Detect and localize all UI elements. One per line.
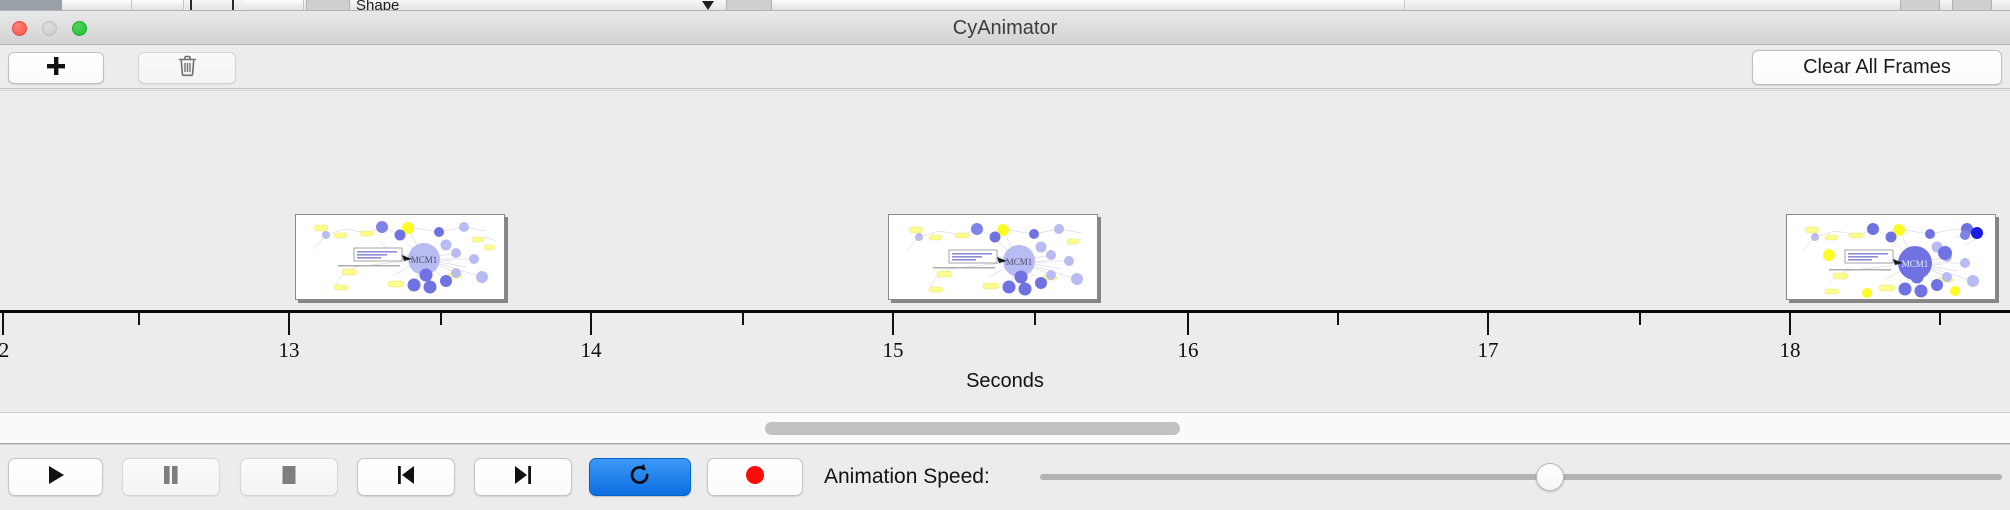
stop-button[interactable] — [240, 458, 338, 496]
axis-tick-major — [2, 313, 4, 335]
play-icon — [46, 464, 66, 491]
background-window-block — [1952, 0, 1992, 11]
timeline-panel[interactable]: MCM1 — [0, 90, 2010, 412]
pause-icon — [162, 464, 180, 491]
axis-tick-minor — [1337, 313, 1339, 325]
background-window-tick — [190, 0, 192, 11]
clear-all-frames-button[interactable]: Clear All Frames — [1752, 50, 2002, 85]
background-window-tick — [232, 0, 234, 11]
background-window-block — [1900, 0, 1940, 11]
background-window-strip: Shape — [0, 0, 2010, 11]
record-icon — [744, 464, 766, 491]
animation-speed-label: Animation Speed: — [824, 458, 990, 496]
loop-button[interactable] — [589, 458, 691, 496]
svg-text:MCM1: MCM1 — [1006, 257, 1033, 267]
skip-forward-icon — [512, 464, 534, 491]
axis-tick-label: 17 — [1478, 338, 1499, 363]
record-button[interactable] — [707, 458, 803, 496]
background-window-segment — [132, 0, 184, 11]
axis-tick-label: 15 — [883, 338, 904, 363]
svg-text:MCM1: MCM1 — [1902, 259, 1929, 269]
axis-tick-label: 18 — [1780, 338, 1801, 363]
timeline-axis-line — [0, 310, 2010, 313]
previous-frame-button[interactable] — [357, 458, 455, 496]
background-window-block — [306, 0, 350, 11]
play-button[interactable] — [8, 458, 103, 496]
background-window-dark-segment — [0, 0, 62, 11]
axis-tick-minor — [440, 313, 442, 325]
plus-icon — [45, 55, 67, 81]
trash-icon — [177, 54, 198, 82]
animation-speed-slider[interactable] — [1040, 458, 2002, 496]
loop-icon — [628, 463, 652, 492]
axis-tick-major — [1789, 313, 1791, 335]
animation-speed-slider-knob[interactable] — [1536, 463, 1564, 491]
axis-tick-label: 14 — [581, 338, 602, 363]
toolbar: Clear All Frames — [0, 45, 2010, 89]
frame-thumbnail[interactable]: MCM1 — [295, 214, 505, 300]
background-window-label: Shape — [356, 0, 399, 11]
cyanimator-window: Shape CyAnimator — [0, 0, 2010, 510]
stop-icon — [279, 464, 299, 491]
axis-tick-label: 16 — [1178, 338, 1199, 363]
axis-tick-label: 2 — [0, 338, 9, 363]
background-window-arrow-icon — [702, 1, 714, 10]
add-frame-button[interactable] — [8, 52, 104, 84]
timeline-scrollbar-thumb[interactable] — [765, 422, 1180, 435]
axis-tick-major — [1187, 313, 1189, 335]
axis-tick-minor — [742, 313, 744, 325]
animation-speed-slider-track[interactable] — [1040, 474, 2002, 480]
axis-tick-major — [288, 313, 290, 335]
axis-tick-minor — [1939, 313, 1941, 325]
frame-thumbnail[interactable]: MCM1 — [888, 214, 1098, 300]
axis-tick-minor — [1034, 313, 1036, 325]
axis-tick-label: 13 — [279, 338, 300, 363]
pause-button[interactable] — [122, 458, 220, 496]
background-window-segment — [62, 0, 132, 11]
axis-tick-major — [892, 313, 894, 335]
axis-title: Seconds — [0, 370, 2010, 393]
background-window-segment — [775, 0, 1405, 11]
frame-thumbnail[interactable]: MCM1 — [1786, 214, 1996, 300]
timeline-scrollbar[interactable] — [0, 412, 2010, 444]
delete-frame-button[interactable] — [138, 52, 236, 84]
window-title: CyAnimator — [0, 11, 2010, 45]
skip-back-icon — [395, 464, 417, 491]
playback-control-bar: Animation Speed: — [0, 444, 2010, 510]
axis-tick-major — [590, 313, 592, 335]
axis-tick-major — [1487, 313, 1489, 335]
axis-tick-minor — [138, 313, 140, 325]
titlebar: CyAnimator — [0, 11, 2010, 45]
background-window-segment — [244, 0, 304, 11]
clear-all-frames-label: Clear All Frames — [1803, 56, 1951, 79]
next-frame-button[interactable] — [474, 458, 572, 496]
background-window-block — [726, 0, 772, 11]
axis-tick-minor — [1639, 313, 1641, 325]
svg-text:MCM1: MCM1 — [411, 255, 438, 265]
